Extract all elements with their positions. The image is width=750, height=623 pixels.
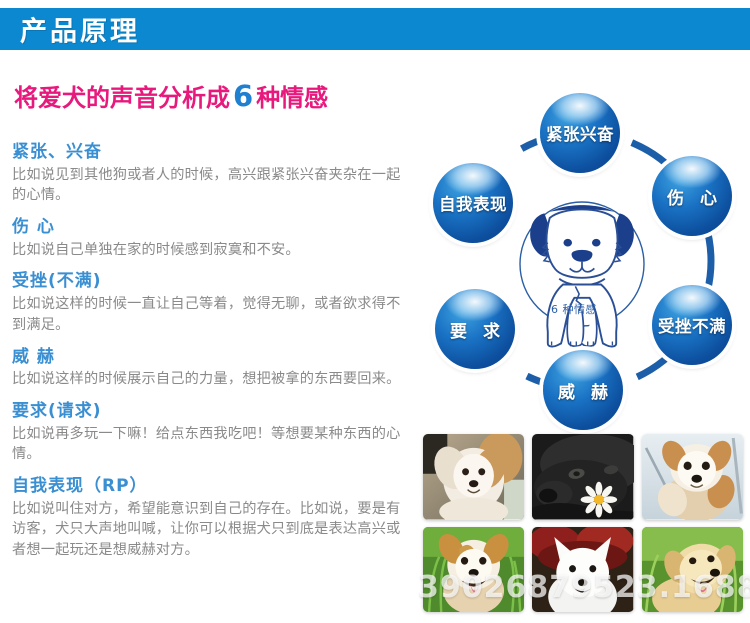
node-selfexpress-label: 自我表现: [439, 191, 507, 215]
section-header-band: 产品原理: [0, 8, 750, 50]
emotion-section: 自我表现（RP） 比如说叫住对方，希望能意识到自己的存在。比如说，要是有访客，犬…: [12, 474, 412, 561]
node-sad[interactable]: 伤 心: [652, 156, 732, 236]
node-excited[interactable]: 紧张兴奋: [540, 93, 620, 173]
photo-corgi-grass[interactable]: [423, 527, 524, 613]
node-threat[interactable]: 威 赫: [543, 350, 623, 430]
page-title: 产品原理: [20, 10, 140, 49]
photo-papillon-puppy[interactable]: [423, 434, 524, 520]
emotion-wheel-diagram: 6 种情感 紧张兴奋 伤 心 受挫不满 威 赫 要 求 自我表现: [410, 88, 750, 418]
emotion-body: 比如说见到其他狗或者人的时候，高兴跟紧张兴奋夹杂在一起的心情。: [12, 165, 412, 206]
photo-golden-retriever[interactable]: [642, 527, 743, 613]
headline-number: 6: [230, 79, 256, 113]
dog-photo-gallery: [423, 434, 743, 612]
emotion-heading: 紧张、兴奋: [12, 140, 412, 165]
emotion-heading: 要求(请求): [12, 399, 412, 424]
emotion-section: 威 赫 比如说这样的时候展示自己的力量，想把被拿的东西要回来。: [12, 345, 412, 390]
product-principle-page: 产品原理 将爱犬的声音分析成6种情感 紧张、兴奋 比如说见到其他狗或者人的时候，…: [0, 0, 750, 623]
node-frustrated-label: 受挫不满: [658, 313, 726, 337]
photo-corgi-puppy[interactable]: [642, 434, 743, 520]
photo-black-lab-daisy[interactable]: [532, 434, 633, 520]
headline-suffix: 种情感: [256, 84, 328, 112]
node-selfexpress[interactable]: 自我表现: [433, 163, 513, 243]
emotion-heading: 受挫(不满): [12, 269, 412, 294]
emotion-section: 受挫(不满) 比如说这样的时候一直让自己等着，觉得无聊，或者欲求得不到满足。: [12, 269, 412, 335]
headline-prefix: 将爱犬的声音分析成: [14, 84, 230, 112]
emotion-section: 伤 心 比如说自己单独在家的时候感到寂寞和不安。: [12, 215, 412, 260]
emotion-descriptions-list: 紧张、兴奋 比如说见到其他狗或者人的时候，高兴跟紧张兴奋夹杂在一起的心情。 伤 …: [12, 140, 412, 570]
emotion-body: 比如说自己单独在家的时候感到寂寞和不安。: [12, 240, 412, 261]
dog-illustration: [531, 205, 633, 346]
emotion-body: 比如说叫住对方，希望能意识到自己的存在。比如说，要是有访客，犬只大声地叫喊，让你…: [12, 499, 412, 561]
emotion-body: 比如说这样的时候展示自己的力量，想把被拿的东西要回来。: [12, 369, 412, 390]
node-demand-label: 要 求: [445, 317, 505, 342]
emotion-heading: 伤 心: [12, 215, 412, 240]
emotion-heading: 威 赫: [12, 345, 412, 370]
emotion-body: 比如说这样的时候一直让自己等着，觉得无聊，或者欲求得不到满足。: [12, 294, 412, 335]
node-excited-label: 紧张兴奋: [546, 121, 614, 145]
emotion-body: 比如说再多玩一下嘛！给点东西我吃吧！等想要某种东西的心情。: [12, 424, 412, 465]
emotion-section: 紧张、兴奋 比如说见到其他狗或者人的时候，高兴跟紧张兴奋夹杂在一起的心情。: [12, 140, 412, 206]
node-frustrated[interactable]: 受挫不满: [652, 285, 732, 365]
headline: 将爱犬的声音分析成6种情感: [14, 78, 328, 113]
emotion-section: 要求(请求) 比如说再多玩一下嘛！给点东西我吃吧！等想要某种东西的心情。: [12, 399, 412, 465]
node-demand[interactable]: 要 求: [435, 289, 515, 369]
node-sad-label: 伤 心: [662, 184, 722, 209]
photo-samoyed[interactable]: [532, 527, 633, 613]
emotion-heading: 自我表现（RP）: [12, 474, 412, 499]
node-threat-label: 威 赫: [553, 378, 613, 403]
diagram-center-label: 6 种情感: [551, 301, 597, 317]
